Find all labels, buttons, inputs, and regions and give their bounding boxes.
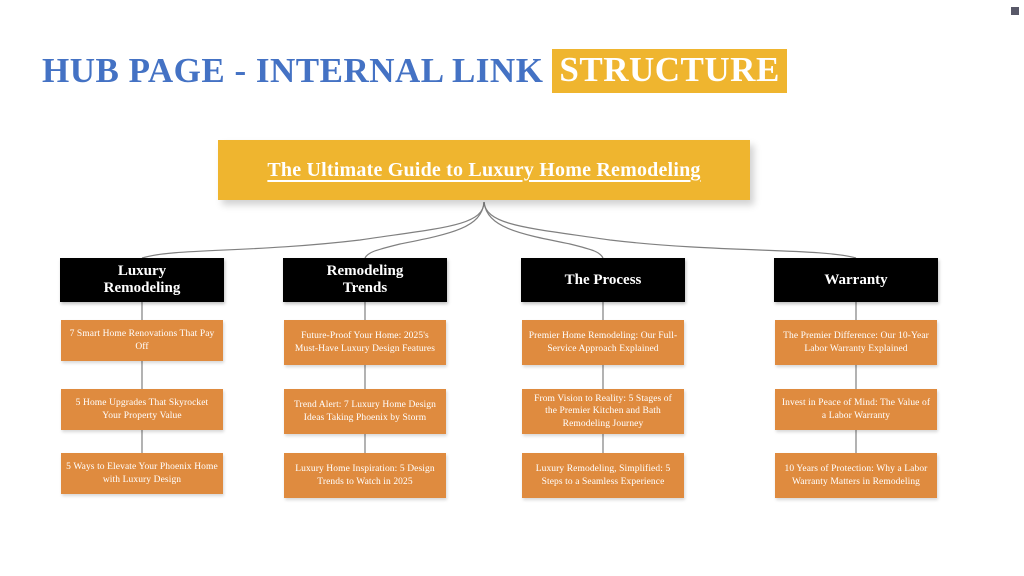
page-title-blue-text: HUB PAGE - INTERNAL LINK <box>42 51 552 91</box>
child-box-tp-3[interactable]: Luxury Remodeling, Simplified: 5 Steps t… <box>522 453 684 498</box>
child-label-lr-1: 7 Smart Home Renovations That Pay Off <box>61 325 223 356</box>
child-box-wr-2[interactable]: Invest in Peace of Mind: The Value of a … <box>775 389 937 430</box>
child-label-tp-1: Premier Home Remodeling: Our Full-Servic… <box>522 327 684 358</box>
child-box-wr-1[interactable]: The Premier Difference: Our 10-Year Labo… <box>775 320 937 365</box>
child-label-wr-2: Invest in Peace of Mind: The Value of a … <box>775 394 937 425</box>
child-box-lr-3[interactable]: 5 Ways to Elevate Your Phoenix Home with… <box>61 453 223 494</box>
category-box-remodeling-trends[interactable]: RemodelingTrends <box>283 258 447 302</box>
slide-canvas: HUB PAGE - INTERNAL LINKSTRUCTURE The Ul… <box>0 0 1024 576</box>
child-box-tp-1[interactable]: Premier Home Remodeling: Our Full-Servic… <box>522 320 684 365</box>
child-box-rt-3[interactable]: Luxury Home Inspiration: 5 Design Trends… <box>284 453 446 498</box>
category-box-luxury-remodeling[interactable]: LuxuryRemodeling <box>60 258 224 302</box>
connector-hub-to-col-3 <box>484 202 603 258</box>
child-label-tp-2: From Vision to Reality: 5 Stages of the … <box>522 390 684 434</box>
hub-page-box[interactable]: The Ultimate Guide to Luxury Home Remode… <box>218 140 750 200</box>
connector-hub-to-col-2 <box>365 202 484 258</box>
child-label-wr-1: The Premier Difference: Our 10-Year Labo… <box>775 327 937 358</box>
category-label-luxury-remodeling: LuxuryRemodeling <box>100 263 185 297</box>
child-label-lr-2: 5 Home Upgrades That Skyrocket Your Prop… <box>61 394 223 425</box>
child-label-wr-3: 10 Years of Protection: Why a Labor Warr… <box>775 460 937 491</box>
child-label-rt-1: Future-Proof Your Home: 2025's Must-Have… <box>284 327 446 358</box>
page-title: HUB PAGE - INTERNAL LINKSTRUCTURE <box>42 48 787 94</box>
connector-hub-to-col-4 <box>484 202 856 258</box>
category-box-the-process[interactable]: The Process <box>521 258 685 302</box>
category-label-remodeling-trends: RemodelingTrends <box>323 263 408 297</box>
child-box-tp-2[interactable]: From Vision to Reality: 5 Stages of the … <box>522 389 684 434</box>
child-box-rt-2[interactable]: Trend Alert: 7 Luxury Home Design Ideas … <box>284 389 446 434</box>
hub-page-label: The Ultimate Guide to Luxury Home Remode… <box>267 159 700 182</box>
child-box-lr-2[interactable]: 5 Home Upgrades That Skyrocket Your Prop… <box>61 389 223 430</box>
category-label-warranty: Warranty <box>820 272 891 289</box>
child-box-rt-1[interactable]: Future-Proof Your Home: 2025's Must-Have… <box>284 320 446 365</box>
child-box-wr-3[interactable]: 10 Years of Protection: Why a Labor Warr… <box>775 453 937 498</box>
corner-artifact-marker <box>1011 7 1019 15</box>
category-box-warranty[interactable]: Warranty <box>774 258 938 302</box>
child-label-rt-3: Luxury Home Inspiration: 5 Design Trends… <box>284 460 446 491</box>
child-label-tp-3: Luxury Remodeling, Simplified: 5 Steps t… <box>522 460 684 491</box>
category-label-the-process: The Process <box>561 272 646 289</box>
child-label-rt-2: Trend Alert: 7 Luxury Home Design Ideas … <box>284 396 446 427</box>
child-label-lr-3: 5 Ways to Elevate Your Phoenix Home with… <box>61 458 223 489</box>
child-box-lr-1[interactable]: 7 Smart Home Renovations That Pay Off <box>61 320 223 361</box>
connector-hub-to-col-1 <box>142 202 484 258</box>
page-title-highlighted-text: STRUCTURE <box>552 49 786 94</box>
